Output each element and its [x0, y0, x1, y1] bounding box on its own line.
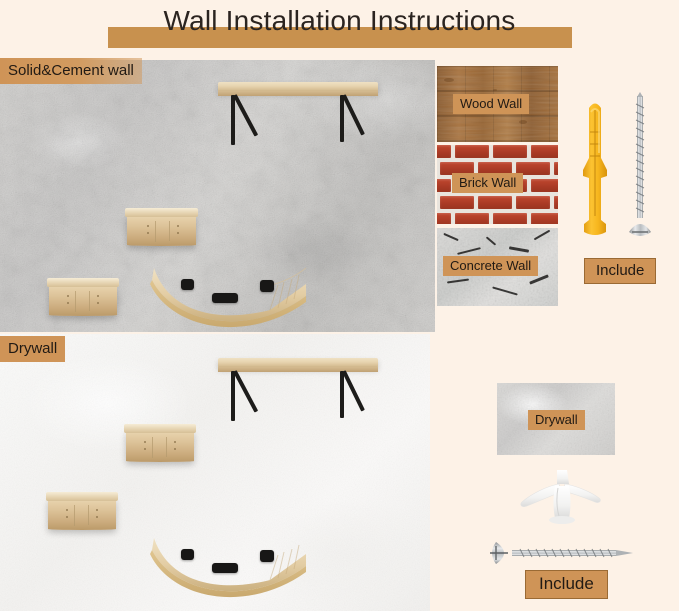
- label-drywall-text: Drywall: [0, 336, 65, 362]
- brick-wall-label-text: Brick Wall: [452, 173, 523, 193]
- rectangular-wall-shelf: [218, 358, 378, 436]
- half-round-cat-step: [124, 424, 196, 464]
- label-solid-cement-wall: Solid&Cement wall: [0, 58, 142, 84]
- rectangular-wall-shelf: [218, 82, 378, 160]
- yellow-wall-anchor: [580, 98, 610, 240]
- white-toggle-anchor: [513, 468, 605, 530]
- half-round-cat-step: [46, 492, 118, 532]
- include-label-bottom: Include: [525, 570, 608, 599]
- wood-wall-label-text: Wood Wall: [453, 94, 529, 114]
- chrome-screw: [627, 92, 653, 242]
- anchor-shape: [580, 98, 610, 240]
- brick-wall-label: Brick Wall: [452, 173, 523, 193]
- cement-wall-photo: [0, 60, 435, 332]
- drywall-photo: [0, 334, 430, 611]
- half-round-cat-step: [125, 208, 198, 248]
- half-round-cat-step: [47, 278, 119, 318]
- label-drywall: Drywall: [0, 336, 65, 362]
- include-label-top-text: Include: [584, 258, 656, 284]
- screw-shape: [627, 92, 653, 242]
- wood-wall-label: Wood Wall: [453, 94, 529, 114]
- label-solid-cement-wall-text: Solid&Cement wall: [0, 58, 142, 84]
- drywall-swatch-label-text: Drywall: [528, 410, 585, 430]
- curved-cat-bridge: [150, 536, 310, 598]
- include-label-bottom-text: Include: [525, 570, 608, 599]
- instruction-graphic: Wall Installation Instructions: [0, 0, 679, 611]
- title-area: Wall Installation Instructions: [0, 0, 679, 58]
- chrome-screw: [488, 540, 638, 566]
- drywall-swatch-label: Drywall: [528, 410, 585, 430]
- toggle-anchor-shape: [513, 468, 605, 530]
- curved-cat-bridge: [150, 266, 310, 326]
- include-label-top: Include: [584, 258, 656, 284]
- page-title: Wall Installation Instructions: [0, 1, 679, 41]
- concrete-wall-label: Concrete Wall: [443, 256, 538, 276]
- screw-shape: [488, 540, 638, 566]
- concrete-wall-label-text: Concrete Wall: [443, 256, 538, 276]
